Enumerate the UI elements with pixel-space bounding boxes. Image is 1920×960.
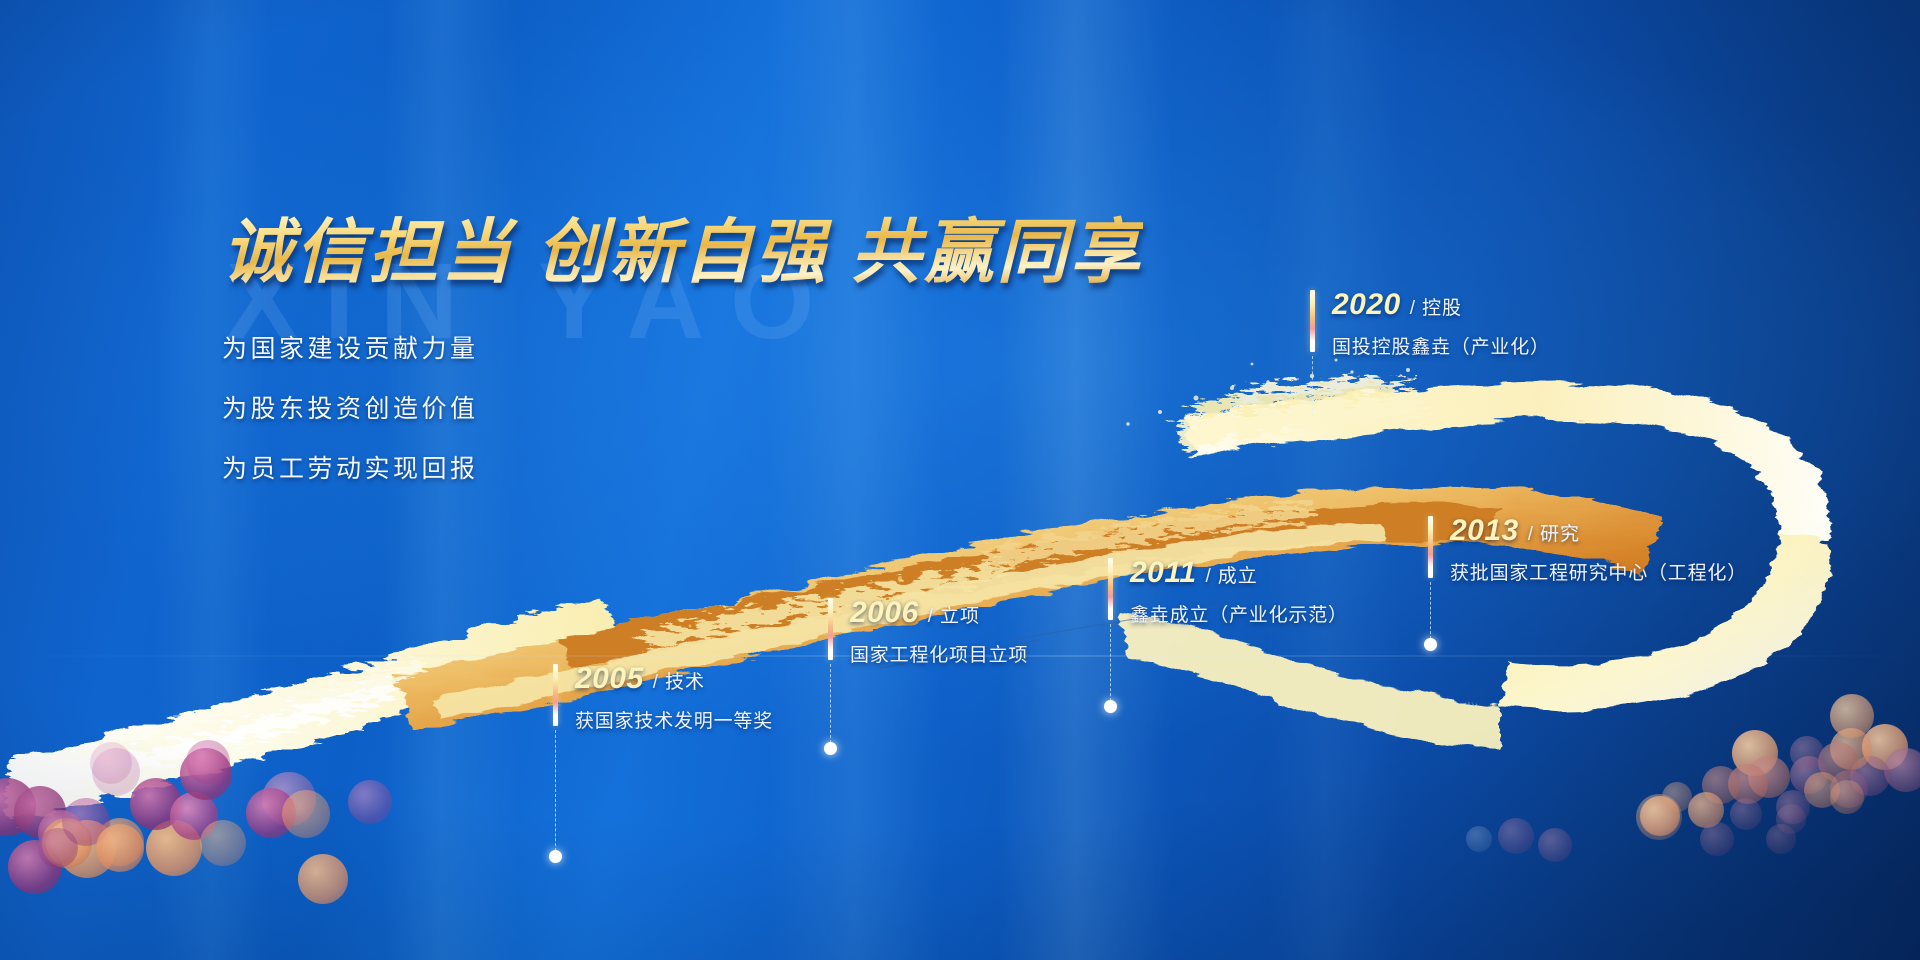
marker-description: 国家工程化项目立项	[850, 640, 1028, 667]
marker-year-line: 2005 / 技术	[575, 662, 773, 696]
page-title: 诚信担当 创新自强 共赢同享	[222, 196, 1143, 297]
marker-accent-bar	[1108, 558, 1113, 620]
marker-text: 2006 / 立项 国家工程化项目立项	[850, 596, 1028, 667]
marker-tag: 成立	[1218, 561, 1258, 588]
marker-year: 2020	[1332, 288, 1401, 322]
leader-line-2006	[830, 664, 831, 748]
marker-description: 获国家技术发明一等奖	[575, 706, 773, 733]
banner-stage: XIN YAO 诚信担当 创新自强 共赢同享 为国家建设贡献力量 为股东投资创造…	[0, 0, 1920, 960]
timeline-dot-2013[interactable]	[1424, 638, 1437, 651]
marker-separator: /	[1410, 298, 1415, 320]
leader-line-2011	[1110, 624, 1111, 706]
slogan-list: 为国家建设贡献力量 为股东投资创造价值 为员工劳动实现回报	[222, 329, 1143, 485]
marker-year-line: 2020 / 控股	[1332, 288, 1550, 322]
leader-line-2005	[555, 730, 556, 856]
headline-block: XIN YAO 诚信担当 创新自强 共赢同享 为国家建设贡献力量 为股东投资创造…	[222, 196, 1143, 509]
marker-text: 2005 / 技术 获国家技术发明一等奖	[575, 662, 773, 733]
marker-year: 2011	[1130, 556, 1197, 590]
marker-description: 国投控股鑫垚（产业化）	[1332, 332, 1550, 359]
marker-year: 2005	[575, 662, 644, 696]
timeline-dot-2011[interactable]	[1104, 700, 1117, 713]
marker-tag: 研究	[1540, 519, 1580, 546]
marker-year-line: 2006 / 立项	[850, 596, 1028, 630]
timeline-dot-2005[interactable]	[549, 850, 562, 863]
marker-tag: 立项	[940, 601, 980, 628]
marker-separator: /	[928, 606, 933, 628]
marker-description: 获批国家工程研究中心（工程化）	[1450, 558, 1747, 585]
marker-tag: 技术	[665, 667, 705, 694]
leader-line-2020	[1312, 356, 1313, 416]
leader-line-2013	[1430, 582, 1431, 644]
marker-tag: 控股	[1422, 293, 1462, 320]
slogan-line-3: 为员工劳动实现回报	[222, 449, 1143, 485]
marker-text: 2013 / 研究 获批国家工程研究中心（工程化）	[1450, 514, 1747, 585]
marker-accent-bar	[828, 598, 833, 660]
timeline-dot-2006[interactable]	[824, 742, 837, 755]
marker-description: 鑫垚成立（产业化示范）	[1130, 600, 1348, 627]
marker-separator: /	[1528, 524, 1533, 546]
marker-year-line: 2013 / 研究	[1450, 514, 1747, 548]
marker-year-line: 2011 / 成立	[1130, 556, 1348, 590]
marker-separator: /	[653, 672, 658, 694]
marker-accent-bar	[1428, 516, 1433, 578]
marker-text: 2020 / 控股 国投控股鑫垚（产业化）	[1332, 288, 1550, 359]
slogan-line-2: 为股东投资创造价值	[222, 389, 1143, 425]
marker-year: 2006	[850, 596, 919, 630]
marker-accent-bar	[553, 664, 558, 726]
slogan-line-1: 为国家建设贡献力量	[222, 329, 1143, 365]
marker-year: 2013	[1450, 514, 1519, 548]
marker-separator: /	[1206, 566, 1211, 588]
marker-accent-bar	[1310, 290, 1315, 352]
marker-text: 2011 / 成立 鑫垚成立（产业化示范）	[1130, 556, 1348, 627]
